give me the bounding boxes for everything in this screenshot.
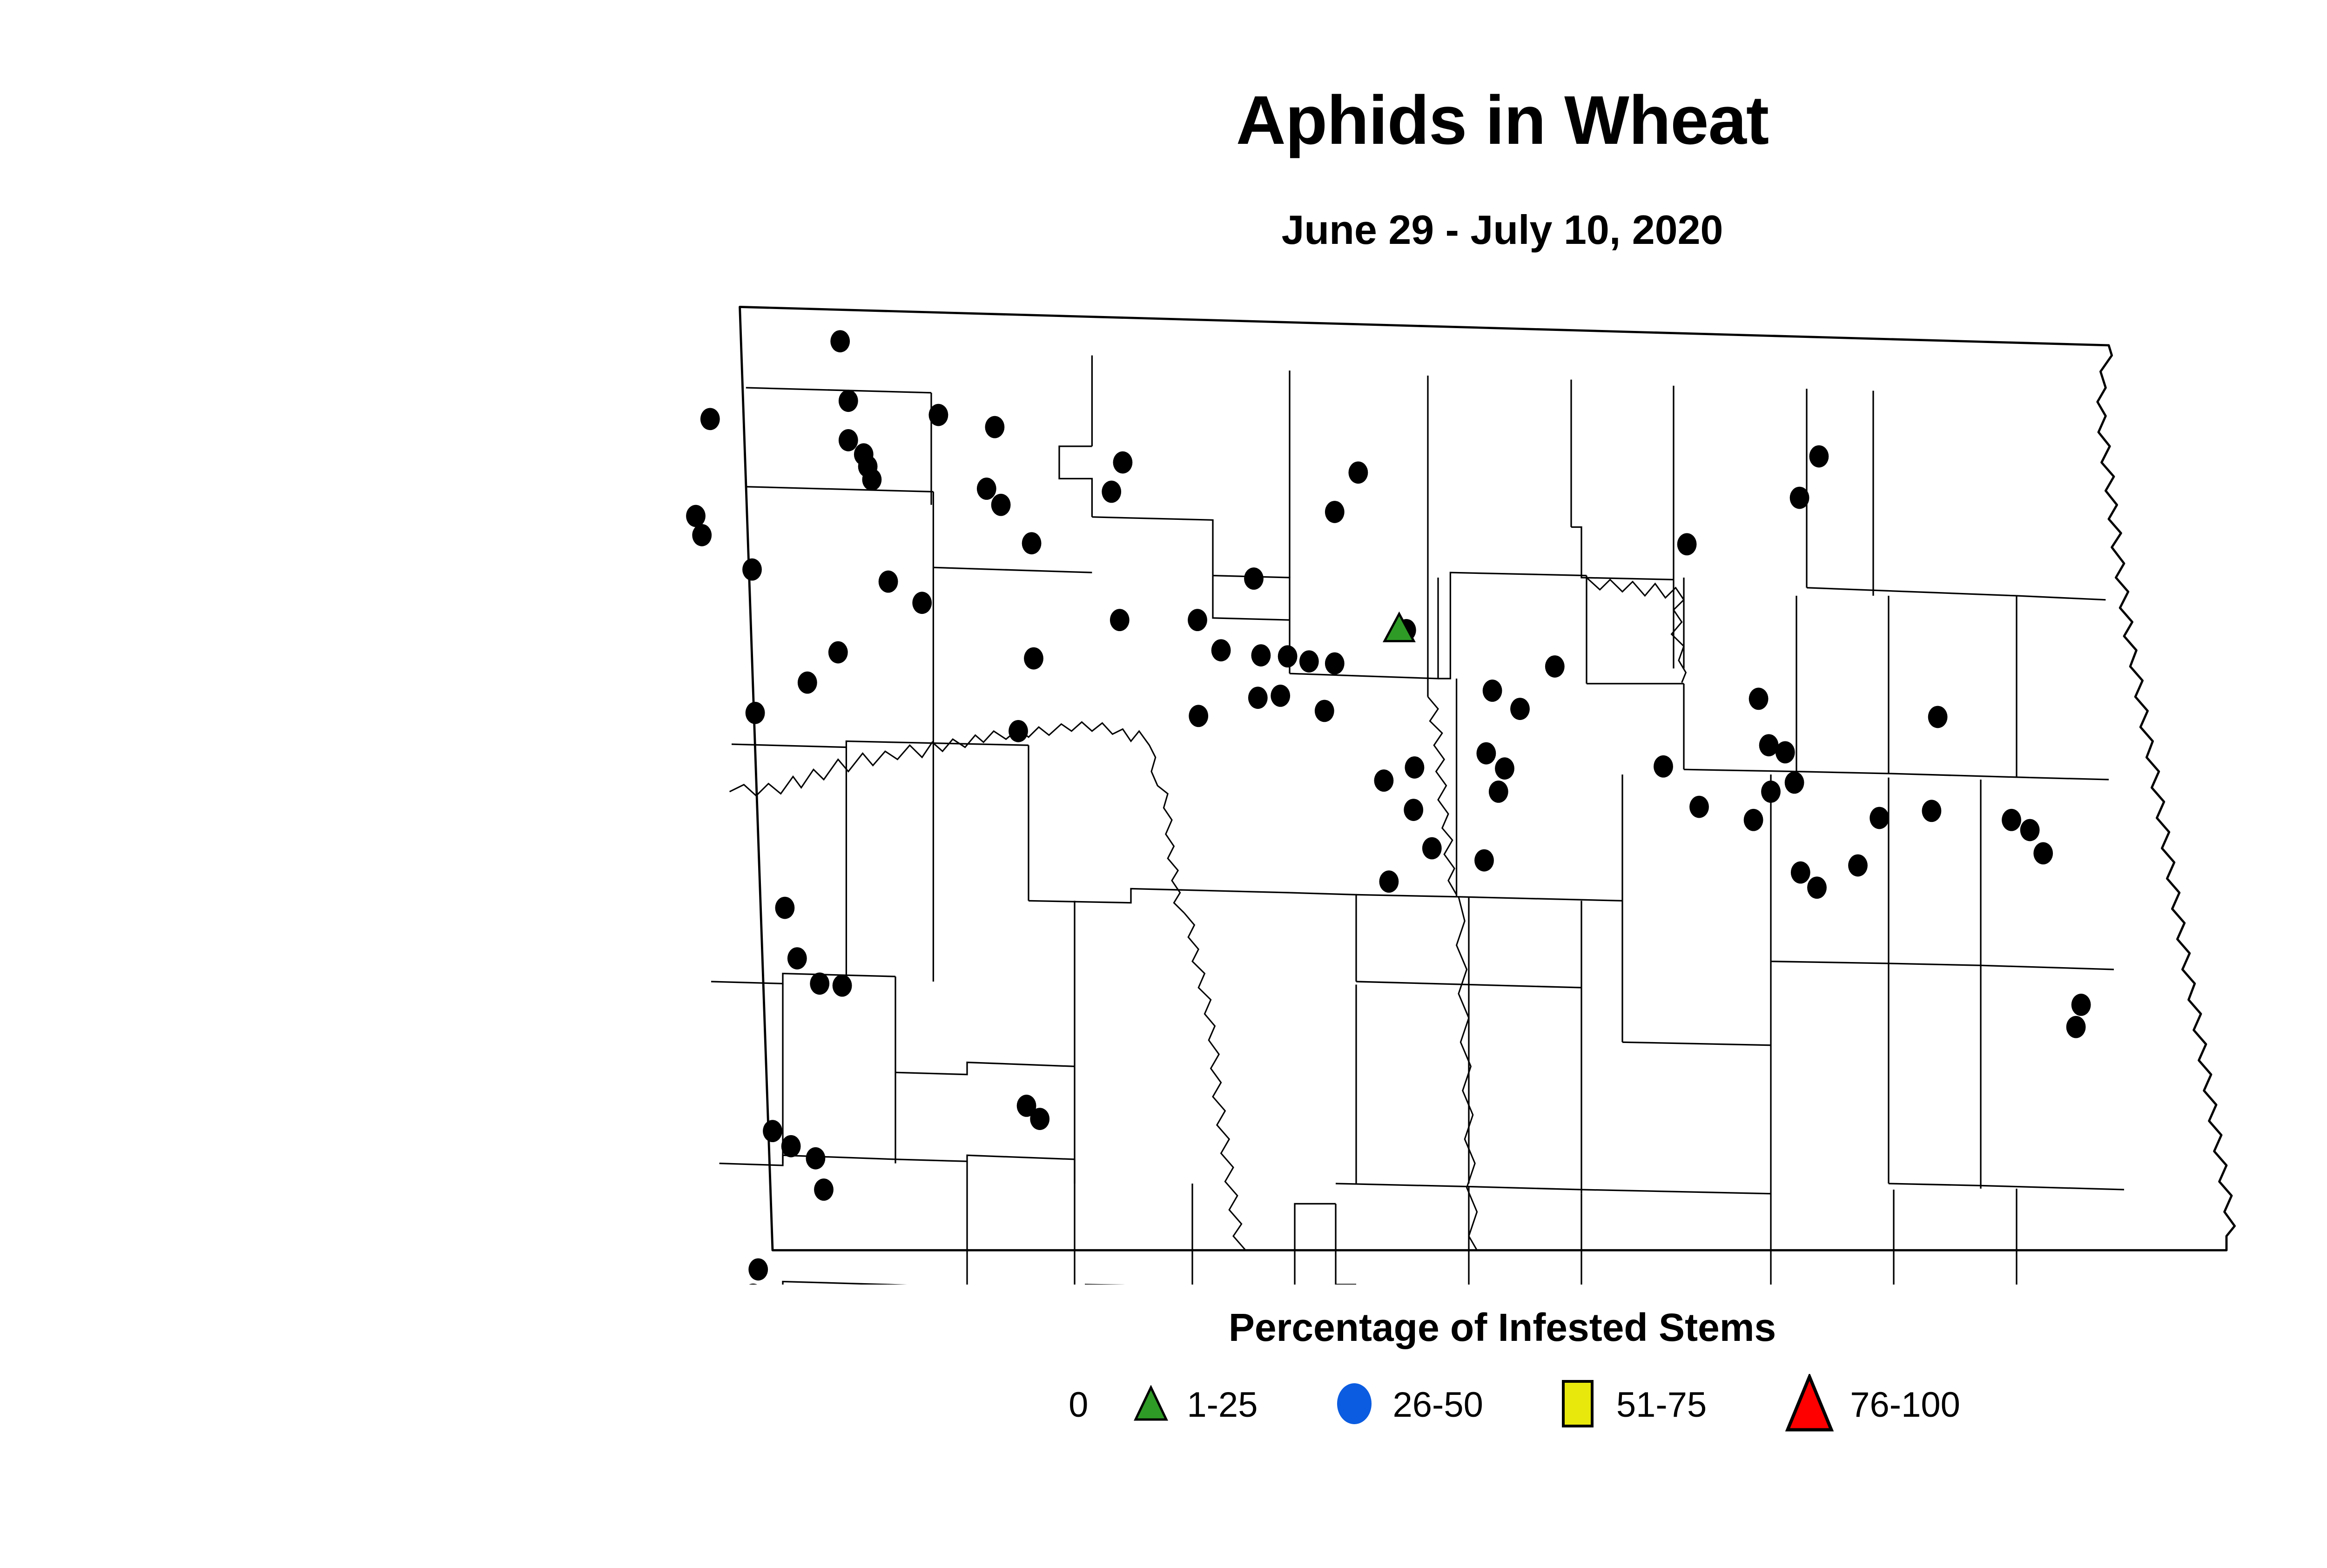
- data-point-0-75: [810, 972, 829, 995]
- missouri-river: [1184, 913, 1245, 1250]
- data-point-0-37: [1325, 501, 1345, 523]
- legend-label-0: 0: [1069, 1387, 1088, 1423]
- data-point-0-27: [1211, 639, 1231, 661]
- data-point-0-21: [798, 672, 817, 694]
- data-point-0-82: [743, 1284, 763, 1285]
- data-point-0-17: [1113, 451, 1133, 474]
- data-point-0-69: [1791, 861, 1810, 884]
- county-line-w3: [895, 1063, 1075, 1075]
- data-point-0-55: [1776, 741, 1795, 764]
- county-line-c8: [1622, 1042, 1771, 1045]
- data-point-0-78: [781, 1135, 801, 1157]
- county-line-w8: [895, 1155, 1075, 1161]
- county-line-n7: [1059, 446, 1092, 517]
- legend-row: 0 1-25 26-50 51-75: [0, 1374, 2327, 1436]
- county-line-c1: [1029, 888, 1290, 902]
- data-point-0-34: [1248, 686, 1268, 709]
- data-point-0-72: [2066, 1016, 2086, 1038]
- county-line-c15: [1981, 965, 2114, 969]
- data-point-0-32: [1315, 700, 1334, 722]
- north-dakota-map[interactable]: [619, 275, 2327, 1285]
- data-point-0-25: [1188, 609, 1207, 631]
- legend-title: Percentage of Infested Stems: [0, 1308, 2327, 1347]
- county-line-n8: [1092, 517, 1213, 576]
- state-outline-group: [740, 307, 2235, 1250]
- data-point-0-47: [1404, 799, 1423, 821]
- data-point-0-29: [1278, 645, 1298, 667]
- james-river: [1457, 897, 1477, 1251]
- map-svg: [619, 275, 2327, 1285]
- county-line-n17: [1807, 588, 2017, 596]
- data-point-0-23: [1009, 720, 1028, 742]
- legend-label-1-25: 1-25: [1187, 1387, 1258, 1423]
- data-point-0-6: [862, 469, 882, 491]
- data-point-0-13: [742, 559, 762, 581]
- data-point-0-62: [1928, 706, 1948, 728]
- legend-symbol-circle-blue: [1336, 1382, 1373, 1427]
- data-point-0-45: [1477, 742, 1496, 765]
- data-point-0-84: [1030, 1108, 1049, 1130]
- county-line-n19: [2017, 596, 2105, 600]
- data-points-group: [686, 330, 2108, 1285]
- county-line-n13: [1571, 527, 1674, 580]
- county-line-c18: [1981, 1185, 2124, 1190]
- county-line-m13: [1796, 772, 1889, 774]
- data-point-0-61: [1677, 533, 1697, 556]
- data-point-0-49: [1474, 849, 1494, 872]
- legend: Percentage of Infested Stems 0 1-25: [0, 1308, 2327, 1436]
- data-point-0-73: [775, 897, 795, 919]
- data-point-0-59: [1809, 445, 1829, 468]
- county-line-c17: [1889, 1184, 1981, 1185]
- legend-item-0[interactable]: 0: [1044, 1387, 1088, 1423]
- data-point-0-42: [1374, 769, 1394, 792]
- data-point-0-56: [1785, 772, 1804, 794]
- county-line-c3: [1356, 895, 1457, 896]
- data-point-0-9: [977, 478, 996, 500]
- legend-item-1-25[interactable]: 1-25: [1134, 1385, 1258, 1425]
- data-point-0-58: [1744, 809, 1763, 831]
- data-point-0-0: [830, 330, 850, 352]
- data-point-0-26: [1244, 567, 1264, 590]
- data-point-0-12: [692, 524, 712, 546]
- data-point-0-51: [1749, 688, 1769, 710]
- county-line-c2: [1290, 893, 1356, 982]
- county-line-m7: [1438, 572, 1587, 679]
- data-point-0-7: [929, 404, 948, 426]
- data-point-0-40: [1495, 757, 1514, 780]
- data-point-0-57: [1761, 781, 1781, 803]
- state-outline: [740, 307, 2235, 1250]
- legend-symbol-square-yellow: [1561, 1380, 1594, 1430]
- county-line-s15: [1469, 1187, 1581, 1190]
- data-point-0-22: [746, 702, 765, 724]
- county-line-s1: [1085, 1184, 1192, 1285]
- county-line-s9: [1356, 982, 1469, 985]
- data-point-0-19: [1110, 609, 1130, 631]
- legend-item-76-100[interactable]: 76-100: [1785, 1374, 1960, 1436]
- data-point-0-71: [2071, 994, 2091, 1016]
- data-point-0-81: [748, 1258, 768, 1281]
- data-point-0-39: [1483, 680, 1502, 702]
- data-point-0-28: [1251, 644, 1271, 666]
- data-point-0-76: [833, 975, 852, 997]
- data-point-0-50: [1379, 870, 1399, 893]
- legend-item-26-50[interactable]: 26-50: [1336, 1382, 1483, 1427]
- county-line-c13: [1889, 963, 1981, 965]
- county-line-c5: [1457, 897, 1622, 901]
- legend-label-51-75: 51-75: [1616, 1387, 1707, 1423]
- legend-symbol-triangle-green: [1134, 1385, 1168, 1425]
- data-point-0-36: [1349, 461, 1368, 484]
- sheyenne-river: [1428, 697, 1457, 895]
- data-point-0-20: [828, 641, 848, 664]
- data-point-0-44: [1510, 698, 1530, 720]
- county-line-n5: [933, 567, 1092, 572]
- legend-symbol-triangle-red: [1785, 1374, 1834, 1436]
- data-point-0-48: [1422, 837, 1442, 860]
- data-point-0-10: [991, 494, 1011, 516]
- data-point-0-35: [1271, 685, 1290, 707]
- devils-lake: [1587, 578, 1686, 683]
- page-title: Aphids in Wheat: [0, 86, 2327, 155]
- data-point-0-52: [1654, 755, 1673, 778]
- data-point-0-79: [806, 1147, 826, 1170]
- data-point-0-24: [1024, 647, 1043, 670]
- data-point-0-2: [839, 429, 858, 451]
- data-point-0-77: [763, 1120, 782, 1142]
- data-point-0-60: [1790, 487, 1809, 509]
- data-point-0-80: [814, 1178, 834, 1201]
- data-point-0-68: [1848, 855, 1868, 877]
- data-point-0-46: [1489, 781, 1508, 803]
- data-point-0-65: [2020, 819, 2040, 841]
- legend-label-26-50: 26-50: [1392, 1387, 1483, 1423]
- data-point-0-67: [1870, 807, 1889, 829]
- figure-root: Aphids in Wheat June 29 - July 10, 2020: [0, 0, 2327, 1568]
- county-line-m17: [2030, 778, 2109, 780]
- data-point-0-70: [1807, 876, 1827, 899]
- county-line-c10: [1771, 962, 1889, 963]
- data-point-0-16: [912, 592, 932, 614]
- county-line-s2: [1192, 1204, 1336, 1285]
- lake-sakakawea: [730, 722, 1184, 913]
- county-line-n1: [746, 388, 931, 393]
- data-point-0-15: [879, 571, 898, 593]
- county-line-m15: [1889, 774, 2030, 778]
- data-point-0-74: [787, 947, 807, 969]
- legend-label-76-100: 76-100: [1850, 1387, 1960, 1423]
- data-point-0-3: [700, 408, 720, 430]
- data-point-0-30: [1299, 650, 1319, 673]
- county-line-s11: [1469, 985, 1581, 988]
- county-line-w1: [711, 974, 895, 984]
- legend-item-51-75[interactable]: 51-75: [1561, 1380, 1707, 1430]
- county-line-s16: [1581, 1190, 1771, 1194]
- data-point-0-8: [985, 416, 1005, 438]
- data-point-0-43: [1545, 655, 1565, 678]
- data-point-0-1: [839, 390, 858, 412]
- data-point-0-33: [1189, 705, 1208, 727]
- page-subtitle: June 29 - July 10, 2020: [0, 209, 2327, 250]
- data-point-0-14: [1022, 532, 1042, 554]
- data-point-0-53: [1689, 796, 1709, 818]
- data-point-0-11: [686, 505, 706, 527]
- county-line-n3: [746, 487, 934, 492]
- data-point-0-38: [1325, 653, 1345, 675]
- county-line-s14: [1336, 1184, 1469, 1187]
- data-point-0-18: [1102, 481, 1121, 503]
- data-point-0-64: [2002, 809, 2021, 831]
- data-point-0-63: [1922, 800, 1942, 822]
- data-point-0-41: [1405, 756, 1425, 779]
- data-point-0-66: [2033, 842, 2053, 865]
